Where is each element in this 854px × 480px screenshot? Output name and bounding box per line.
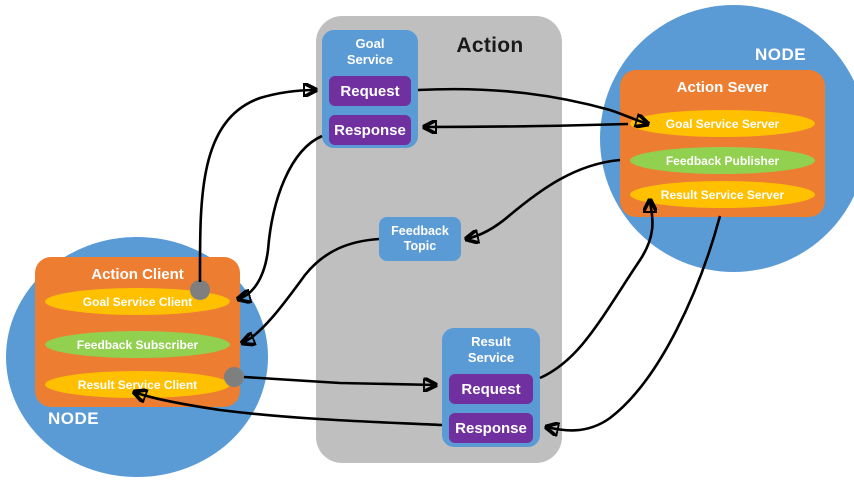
result-service-title-line1: Result [471, 334, 511, 349]
goal-service-box: Goal Service Request Response [322, 30, 418, 148]
arrow-goalresponse-to-goalserviceclient [238, 136, 322, 299]
feedback-topic-title: Feedback Topic [391, 224, 449, 254]
connector-dot-goal-client [190, 280, 210, 300]
node-label-client: NODE [48, 409, 99, 429]
result-service-title: Result Service [442, 334, 540, 366]
arrow-goalclient-to-goalrequest [200, 90, 316, 282]
endpoint-result-service-server: Result Service Server [630, 181, 815, 208]
feedback-topic-title-line1: Feedback [391, 224, 449, 238]
feedback-topic-box: Feedback Topic [379, 217, 461, 261]
goal-service-response: Response [329, 115, 411, 145]
goal-service-title-line2: Service [347, 52, 393, 67]
action-client-title: Action Client [35, 266, 240, 283]
goal-service-request: Request [329, 76, 411, 106]
node-label-server: NODE [755, 45, 806, 65]
result-service-request: Request [449, 374, 533, 404]
endpoint-goal-service-server: Goal Service Server [630, 110, 815, 137]
action-server-title: Action Sever [620, 79, 825, 96]
goal-service-title-line1: Goal [356, 36, 385, 51]
endpoint-result-service-client: Result Service Client [45, 371, 230, 398]
result-service-title-line2: Service [468, 350, 514, 365]
endpoint-feedback-subscriber: Feedback Subscriber [45, 331, 230, 358]
feedback-topic-title-line2: Topic [404, 239, 436, 253]
action-panel-title: Action [430, 34, 550, 58]
action-server-group: Action Sever Goal Service Server Feedbac… [620, 70, 825, 217]
result-service-response: Response [449, 413, 533, 443]
connector-dot-result-client [224, 367, 244, 387]
goal-service-title: Goal Service [322, 36, 418, 68]
endpoint-feedback-publisher: Feedback Publisher [630, 147, 815, 174]
result-service-box: Result Service Request Response [442, 328, 540, 447]
action-client-group: Action Client Goal Service Client Feedba… [35, 257, 240, 407]
diagram-canvas: Action Action Client Goal Service Client… [0, 0, 854, 480]
